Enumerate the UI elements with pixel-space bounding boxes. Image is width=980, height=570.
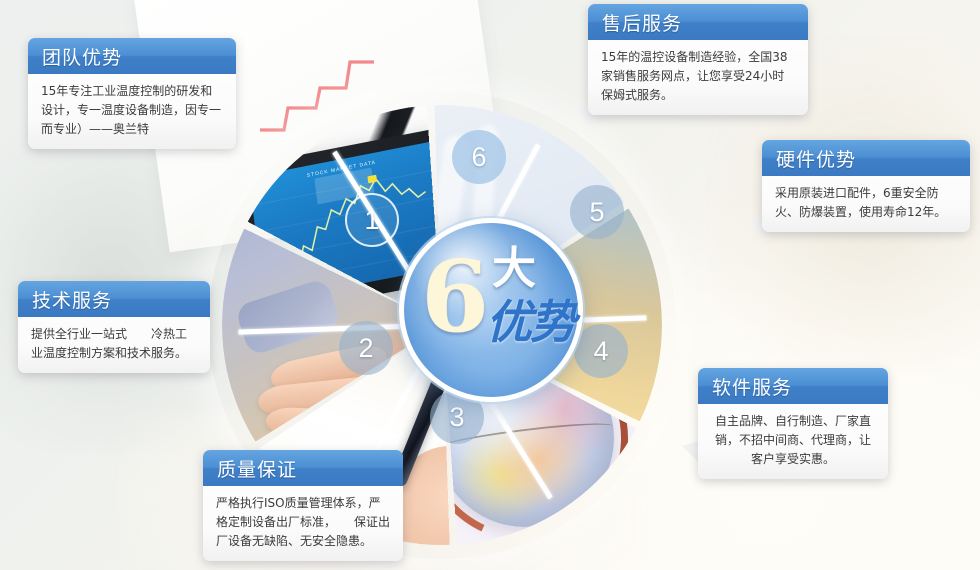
callout-header: 质量保证 [203,450,403,486]
badge-word: 优势 [486,297,574,347]
callout-software-service[interactable]: 软件服务 自主品牌、自行制造、厂家直销，不招中间商、代理商，让客户享受实惠。 [698,368,888,479]
infographic-canvas: STOCK MARKET DATA INTC [0,0,980,570]
callout-body: 15年的温控设备制造经验，全国38家销售服务网点，让您享受24小时保姆式服务。 [588,40,808,115]
callout-header: 团队优势 [28,38,236,74]
badge-number: 6 [421,249,489,347]
segment-number-5[interactable]: 5 [570,185,624,239]
callout-header: 软件服务 [698,368,888,404]
callout-body: 自主品牌、自行制造、厂家直销，不招中间商、代理商，让客户享受实惠。 [698,404,888,479]
callout-title: 技术服务 [32,286,112,313]
callout-body: 15年专注工业温度控制的研发和设计，专一温度设备制造，因专一而专业）——奥兰特 [28,74,236,149]
callout-hardware-advantage[interactable]: 硬件优势 采用原装进口配件，6重安全防火、防爆装置，使用寿命12年。 [762,140,970,232]
center-badge: 6 大 优势 [399,218,583,402]
callout-header: 技术服务 [18,281,210,317]
segment-number-1[interactable]: 1 [345,193,399,247]
callout-header: 售后服务 [588,4,808,40]
callout-after-sales-service[interactable]: 售后服务 15年的温控设备制造经验，全国38家销售服务网点，让您享受24小时保姆… [588,4,808,115]
segment-number-2[interactable]: 2 [339,321,393,375]
callout-title: 售后服务 [602,9,682,36]
callout-body: 严格执行ISO质量管理体系，严格定制设备出厂标准， 保证出厂设备无缺陷、无安全隐… [203,486,403,561]
callout-header: 硬件优势 [762,140,970,176]
callout-tech-service[interactable]: 技术服务 提供全行业一站式 冷热工业温度控制方案和技术服务。 [18,281,210,373]
callout-title: 团队优势 [42,43,122,70]
callout-body: 提供全行业一站式 冷热工业温度控制方案和技术服务。 [18,317,210,373]
segment-number-4[interactable]: 4 [574,324,628,378]
callout-team-advantage[interactable]: 团队优势 15年专注工业温度控制的研发和设计，专一温度设备制造，因专一而专业）—… [28,38,236,149]
callout-title: 质量保证 [217,455,297,482]
callout-body: 采用原装进口配件，6重安全防火、防爆装置，使用寿命12年。 [762,176,970,232]
callout-title: 软件服务 [712,373,792,400]
segment-number-6[interactable]: 6 [452,130,506,184]
callout-title: 硬件优势 [776,145,856,172]
callout-quality-guarantee[interactable]: 质量保证 严格执行ISO质量管理体系，严格定制设备出厂标准， 保证出厂设备无缺陷… [203,450,403,561]
badge-unit: 大 [492,247,536,291]
